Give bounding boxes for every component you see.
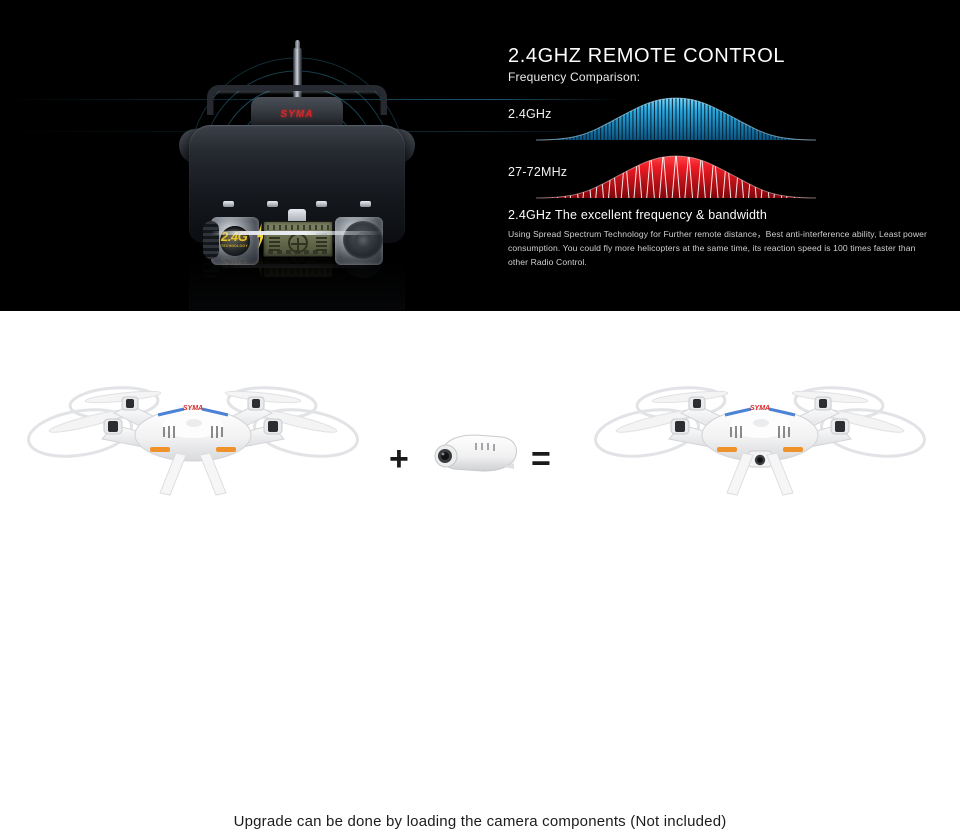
reflection-lcd (263, 248, 333, 278)
transmitter-body: 2.4G TECHNOLOGY (189, 125, 405, 243)
section-subtitle: Frequency Comparison: (508, 70, 948, 84)
trim-button-4[interactable] (360, 201, 371, 207)
frequency-row-24ghz: 2.4GHz (508, 94, 948, 142)
drone-brand-text: SYMA (750, 405, 770, 412)
plus-operator: + (389, 442, 409, 476)
feature-body: Using Spread Spectrum Technology for Fur… (508, 228, 928, 270)
reflection-dpad (343, 248, 383, 278)
drone-with-camera: SYMA (585, 361, 935, 501)
remote-control-section: SYMA 2.4G TECHNOLOGY (0, 0, 960, 311)
remote-transmitter: SYMA 2.4G TECHNOLOGY (183, 47, 411, 247)
waveform-blue (536, 94, 948, 142)
reflection-lcd-foot (268, 248, 328, 249)
reflection-light-strip (211, 264, 383, 268)
frequency-row-2772mhz: 27-72MHz (508, 152, 948, 200)
transmitter-reflection: 2.4G (183, 248, 411, 310)
upgrade-caption: Upgrade can be done by loading the camer… (0, 813, 960, 830)
camera-module (424, 425, 524, 483)
front-light-strip (211, 231, 383, 235)
trim-button-1[interactable] (223, 201, 234, 207)
reflection-body: 2.4G (189, 256, 405, 310)
trim-button-3[interactable] (316, 201, 327, 207)
syma-brand-logo: SYMA (251, 109, 343, 120)
trim-button-2[interactable] (267, 201, 278, 207)
equals-operator: = (531, 442, 551, 476)
reflection-vent (203, 248, 219, 278)
upgrade-section: SYMA + = (0, 311, 960, 542)
reflection-lcd-row (267, 269, 329, 274)
drone-brand-text: SYMA (183, 405, 203, 412)
waveform-red (536, 152, 948, 200)
lcd-status-bar (267, 225, 329, 230)
feature-heading: 2.4GHz The excellent frequency & bandwid… (508, 208, 948, 222)
spec-text-column: 2.4GHZ REMOTE CONTROL Frequency Comparis… (508, 45, 948, 270)
drone-without-camera: SYMA (18, 361, 368, 501)
section-title: 2.4GHZ REMOTE CONTROL (508, 45, 948, 68)
product-infographic: SYMA 2.4G TECHNOLOGY (0, 0, 960, 542)
